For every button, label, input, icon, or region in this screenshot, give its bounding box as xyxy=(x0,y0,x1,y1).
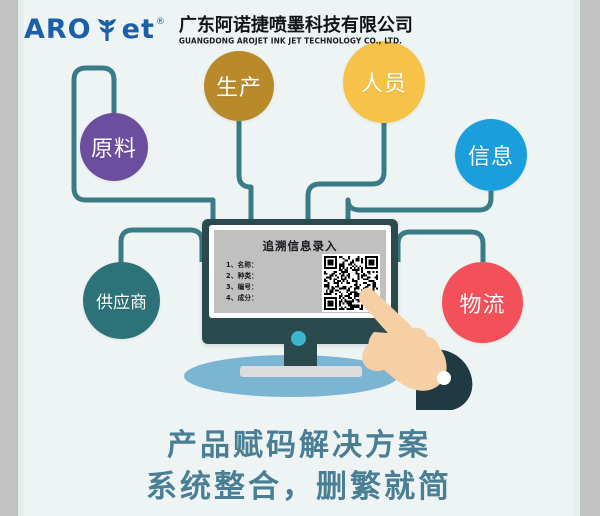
node-label-raw-material: 原料 xyxy=(91,131,137,163)
connector-production xyxy=(239,121,251,219)
screen-title: 追溯信息录入 xyxy=(214,238,386,254)
company-name-en: GUANGDONG AROJET INK JET TECHNOLOGY CO.,… xyxy=(179,36,413,45)
registered-trademark-icon: ® xyxy=(156,17,165,27)
logo-text-aro: ARO xyxy=(24,16,92,44)
traceability-field: 4、成分： xyxy=(226,293,258,304)
connector-logistics xyxy=(398,232,483,262)
arojet-logo: ARO et ® xyxy=(24,16,165,44)
company-name-cn: 广东阿诺捷喷墨科技有限公司 xyxy=(179,16,413,36)
node-raw-material[interactable]: 原料 xyxy=(80,113,148,181)
node-label-production: 生产 xyxy=(216,70,262,102)
slogan-line-2: 系统整合，删繁就简 xyxy=(18,461,580,506)
node-personnel[interactable]: 人员 xyxy=(343,41,425,123)
slogan-line-1-text: 产品赋码解决方案 xyxy=(167,428,431,463)
connector-information xyxy=(348,191,491,219)
brand-header: ARO et ® 广东阿诺捷喷墨科技有限公司 GUANGDONG AROJET … xyxy=(18,10,578,50)
node-information[interactable]: 信息 xyxy=(455,119,527,191)
node-label-supplier: 供应商 xyxy=(96,288,147,313)
traceability-field-list: 1、名称：2、种类：3、编号：4、成分： xyxy=(226,260,258,304)
poster-canvas: ARO et ® 广东阿诺捷喷墨科技有限公司 GUANGDONG AROJET … xyxy=(0,0,600,516)
slogan-line-2-text: 系统整合，删繁就简 xyxy=(146,469,452,505)
power-indicator-dot xyxy=(291,331,306,346)
node-label-information: 信息 xyxy=(468,139,514,171)
node-production[interactable]: 生产 xyxy=(204,51,274,121)
company-name-block: 广东阿诺捷喷墨科技有限公司 GUANGDONG AROJET INK JET T… xyxy=(179,16,413,45)
traceability-field: 2、种类： xyxy=(226,271,258,282)
traceability-field: 3、编号： xyxy=(226,282,258,293)
node-supplier[interactable]: 供应商 xyxy=(83,262,160,339)
pointing-hand-illustration xyxy=(330,280,480,410)
traceability-field: 1、名称： xyxy=(226,260,258,271)
slogan-line-1: 产品赋码解决方案 xyxy=(18,420,580,464)
monitor-neck xyxy=(284,344,317,368)
node-label-personnel: 人员 xyxy=(361,66,407,98)
arojet-leaf-icon xyxy=(95,17,119,43)
connector-supplier xyxy=(121,230,202,262)
logo-text-et: et xyxy=(122,16,155,44)
